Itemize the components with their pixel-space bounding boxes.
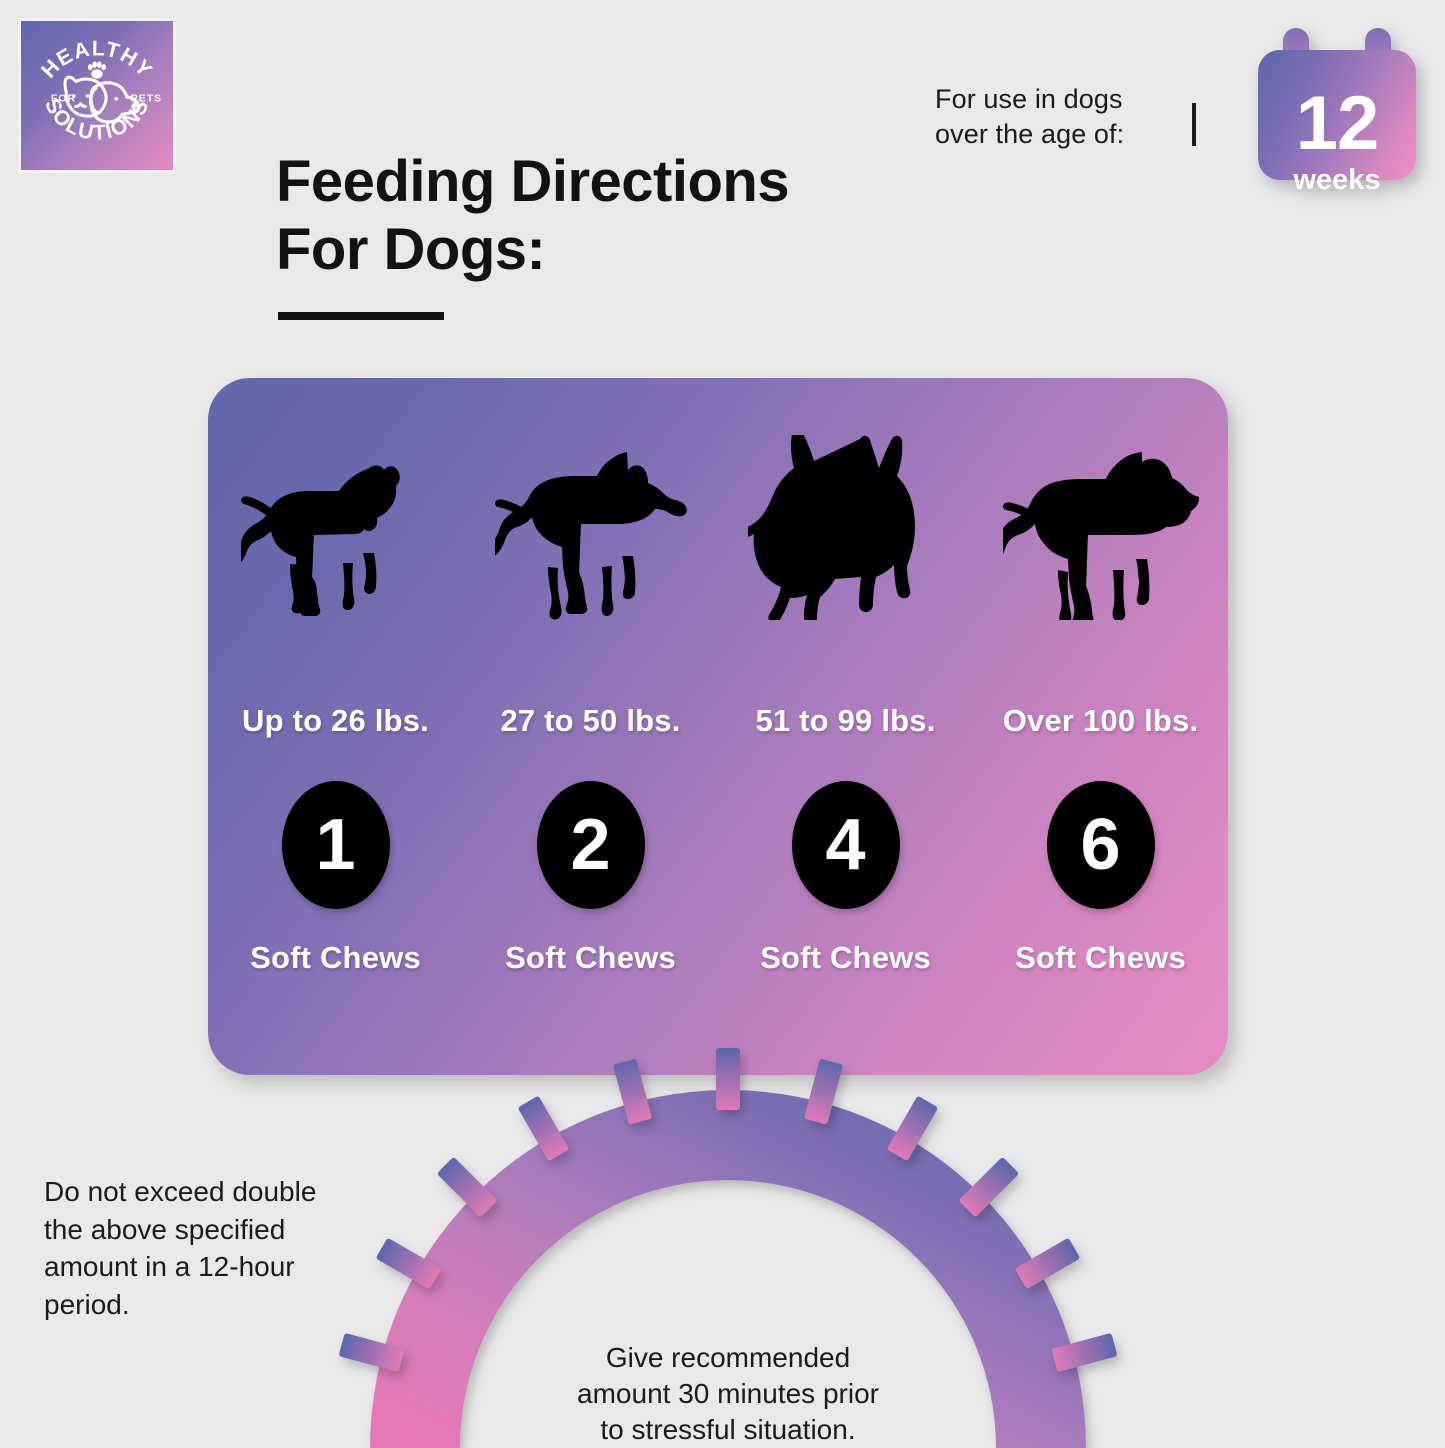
- dose-count: 6: [1080, 809, 1120, 881]
- calendar-body: 12 weeks: [1258, 50, 1416, 180]
- timing-line-2: amount 30 minutes prior: [278, 1376, 1178, 1412]
- timing-line-3: to stressful situation.: [278, 1412, 1178, 1448]
- dose-badge: 2: [537, 781, 645, 909]
- dose-count: 2: [570, 809, 610, 881]
- dose-badge: 4: [792, 781, 900, 909]
- dose-unit-label: Soft Chews: [463, 940, 718, 976]
- feeding-column: 27 to 50 lbs. 2 Soft Chews: [463, 378, 718, 1075]
- page-title-line-2: For Dogs:: [276, 216, 996, 284]
- mastiff-dog-silhouette: [973, 430, 1228, 620]
- calendar-unit: weeks: [1258, 166, 1416, 195]
- medium-dog-silhouette: [463, 430, 718, 620]
- page-title-line-1: Feeding Directions: [276, 149, 789, 214]
- age-note-line-2: over the age of:: [935, 117, 1195, 152]
- svg-text:FOR: FOR: [51, 93, 76, 105]
- age-requirement-text: For use in dogs over the age of:: [935, 82, 1195, 151]
- dose-unit-label: Soft Chews: [973, 940, 1228, 976]
- dose-count: 1: [315, 809, 355, 881]
- calendar-icon: 12 weeks: [1258, 28, 1416, 180]
- dose-badge: 6: [1047, 781, 1155, 909]
- dose-count: 4: [825, 809, 865, 881]
- feeding-column: 51 to 99 lbs. 4 Soft Chews: [718, 378, 973, 1075]
- dose-unit-label: Soft Chews: [208, 940, 463, 976]
- terrier-dog-silhouette: [208, 430, 463, 620]
- feeding-column: Up to 26 lbs. 1 Soft Chews: [208, 378, 463, 1075]
- weight-label: Up to 26 lbs.: [208, 703, 463, 739]
- brand-logo: HEALTHY SOLUTIONS FOR PETS: [18, 18, 176, 173]
- age-note-line-1: For use in dogs: [935, 82, 1195, 117]
- shepherd-dog-silhouette: [718, 430, 973, 620]
- timing-instruction-text: Give recommended amount 30 minutes prior…: [278, 1340, 1178, 1447]
- infographic-root: HEALTHY SOLUTIONS FOR PETS: [0, 0, 1445, 1445]
- feeding-column: Over 100 lbs. 6 Soft Chews: [973, 378, 1228, 1075]
- title-underline-rule: [278, 312, 444, 320]
- dose-unit-label: Soft Chews: [718, 940, 973, 976]
- vertical-divider: [1192, 103, 1196, 146]
- feeding-chart-card: Up to 26 lbs. 1 Soft Chews 27 to 50 lbs.…: [208, 378, 1228, 1075]
- weight-label: Over 100 lbs.: [973, 703, 1228, 739]
- calendar-number: 12: [1258, 86, 1416, 162]
- timing-line-1: Give recommended: [278, 1340, 1178, 1376]
- dose-badge: 1: [282, 781, 390, 909]
- timer-arc-icon: Give recommended amount 30 minutes prior…: [278, 1108, 1178, 1448]
- weight-label: 51 to 99 lbs.: [718, 703, 973, 739]
- page-title: Feeding Directions For Dogs:: [276, 148, 996, 285]
- weight-label: 27 to 50 lbs.: [463, 703, 718, 739]
